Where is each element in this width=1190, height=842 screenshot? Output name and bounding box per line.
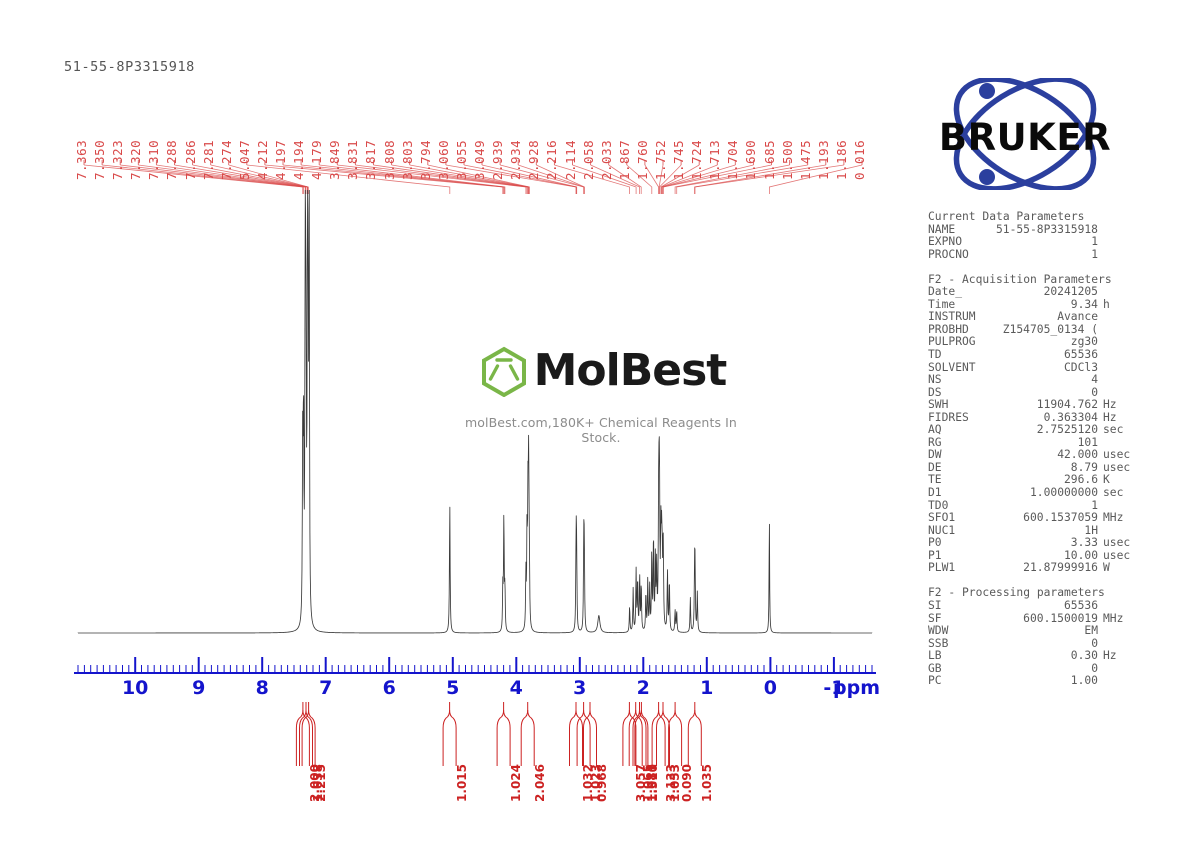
param-unit: MHz xyxy=(1098,613,1123,626)
param-key: PROCNO xyxy=(928,249,988,262)
param-row: PROCNO1 xyxy=(928,249,1168,262)
integration-region: 2.0001.0382.2151.0151.0242.0461.0321.023… xyxy=(0,700,900,780)
param-row: NUC11H xyxy=(928,525,1168,538)
axis-tick-label: 1 xyxy=(700,677,713,699)
param-row: SWH11904.762Hz xyxy=(928,399,1168,412)
param-value: 600.1537059 xyxy=(988,512,1098,525)
axis-tick-label: 9 xyxy=(192,677,205,699)
param-unit: MHz xyxy=(1098,512,1123,525)
param-row: SFO1600.1537059MHz xyxy=(928,512,1168,525)
bruker-logo: BRUKER xyxy=(925,78,1125,190)
param-key: SFO1 xyxy=(928,512,988,525)
param-value: 3.33 xyxy=(988,537,1098,550)
param-key: PLW1 xyxy=(928,562,988,575)
axis-tick-label: 4 xyxy=(510,677,523,699)
spectrum-trace xyxy=(0,190,900,650)
param-row: PC1.00 xyxy=(928,675,1168,688)
axis-tick-label: 7 xyxy=(319,677,332,699)
param-row: LB0.30Hz xyxy=(928,650,1168,663)
param-key: Date_ xyxy=(928,286,988,299)
peak-leader-lines xyxy=(0,160,900,194)
param-value: 4 xyxy=(988,374,1098,387)
param-spacer xyxy=(928,261,1168,274)
param-row: D11.00000000sec xyxy=(928,487,1168,500)
param-section-heading: Current Data Parameters xyxy=(928,211,1168,224)
param-value: 21.87999916 xyxy=(988,562,1098,575)
integral-value: 2.215 xyxy=(314,764,328,802)
param-unit: sec xyxy=(1098,487,1123,500)
param-value: 600.1500019 xyxy=(988,613,1098,626)
param-row: P03.33usec xyxy=(928,537,1168,550)
param-row: SSB0 xyxy=(928,638,1168,651)
param-row: AQ2.7525120sec xyxy=(928,424,1168,437)
bruker-atom-icon: BRUKER xyxy=(925,78,1125,190)
axis-tick-label: 2 xyxy=(637,677,650,699)
param-value: 1 xyxy=(988,236,1098,249)
param-unit: Hz xyxy=(1098,399,1117,412)
param-value: 1.00 xyxy=(988,675,1098,688)
spectrum-plot xyxy=(0,190,900,650)
param-value: 51-55-8P3315918 xyxy=(988,224,1098,237)
param-key: SI xyxy=(928,600,988,613)
axis-tick-label: 3 xyxy=(573,677,586,699)
param-row: SI65536 xyxy=(928,600,1168,613)
param-row: GB0 xyxy=(928,663,1168,676)
param-key: PC xyxy=(928,675,988,688)
param-value: EM xyxy=(988,625,1098,638)
param-unit: W xyxy=(1098,562,1110,575)
param-row: DE8.79usec xyxy=(928,462,1168,475)
param-key: AQ xyxy=(928,424,988,437)
integral-brackets xyxy=(0,700,900,780)
axis-tick-label: -1 xyxy=(823,677,844,699)
param-row: TD65536 xyxy=(928,349,1168,362)
integral-value: 1.310 xyxy=(646,764,660,802)
integral-value: 2.046 xyxy=(533,764,547,802)
param-row: Date_20241205 xyxy=(928,286,1168,299)
param-value: 20241205 xyxy=(988,286,1098,299)
sample-title: 51-55-8P3315918 xyxy=(64,59,195,75)
bruker-wordmark: BRUKER xyxy=(939,116,1111,159)
param-row: DW42.000usec xyxy=(928,449,1168,462)
param-row: PLW121.87999916W xyxy=(928,562,1168,575)
param-key: P0 xyxy=(928,537,988,550)
param-unit: sec xyxy=(1098,424,1123,437)
param-key: LB xyxy=(928,650,988,663)
integral-value: 0.090 xyxy=(680,764,694,802)
atom-dot-top xyxy=(979,83,995,99)
param-key: WDW xyxy=(928,625,988,638)
param-value: 2.7525120 xyxy=(988,424,1098,437)
param-row: EXPNO1 xyxy=(928,236,1168,249)
param-unit: h xyxy=(1098,299,1110,312)
param-row: SF600.1500019MHz xyxy=(928,613,1168,626)
axis-tick-label: 0 xyxy=(764,677,777,699)
integral-value: 1.015 xyxy=(455,764,469,802)
axis-ruler xyxy=(0,655,900,677)
param-unit: Hz xyxy=(1098,650,1117,663)
integral-value: 1.035 xyxy=(700,764,714,802)
param-key: SWH xyxy=(928,399,988,412)
param-key: EXPNO xyxy=(928,236,988,249)
param-value: CDCl3 xyxy=(988,362,1098,375)
param-value: 1.00000000 xyxy=(988,487,1098,500)
integral-value: 0.968 xyxy=(595,764,609,802)
param-value: 1 xyxy=(988,249,1098,262)
param-value: 65536 xyxy=(988,600,1098,613)
param-row: PULPROGzg30 xyxy=(928,336,1168,349)
atom-dot-bottom xyxy=(979,169,995,185)
axis-tick-label: 10 xyxy=(122,677,148,699)
param-key: D1 xyxy=(928,487,988,500)
param-key: NS xyxy=(928,374,988,387)
param-value: 11904.762 xyxy=(988,399,1098,412)
axis-tick-label: 6 xyxy=(383,677,396,699)
integral-value: 1.024 xyxy=(509,764,523,802)
param-value: 65536 xyxy=(988,349,1098,362)
axis-tick-label: 8 xyxy=(256,677,269,699)
param-value: 0.30 xyxy=(988,650,1098,663)
param-key: TD xyxy=(928,349,988,362)
param-row: NS4 xyxy=(928,374,1168,387)
param-row: RG101 xyxy=(928,437,1168,450)
axis-tick-label: 5 xyxy=(446,677,459,699)
param-row: NAME51-55-8P3315918 xyxy=(928,224,1168,237)
param-row: SOLVENTCDCl3 xyxy=(928,362,1168,375)
param-unit: usec xyxy=(1098,537,1130,550)
param-row: WDWEM xyxy=(928,625,1168,638)
acquisition-parameters-panel: Current Data ParametersNAME51-55-8P33159… xyxy=(928,211,1168,688)
param-section-heading: F2 - Processing parameters xyxy=(928,587,1168,600)
